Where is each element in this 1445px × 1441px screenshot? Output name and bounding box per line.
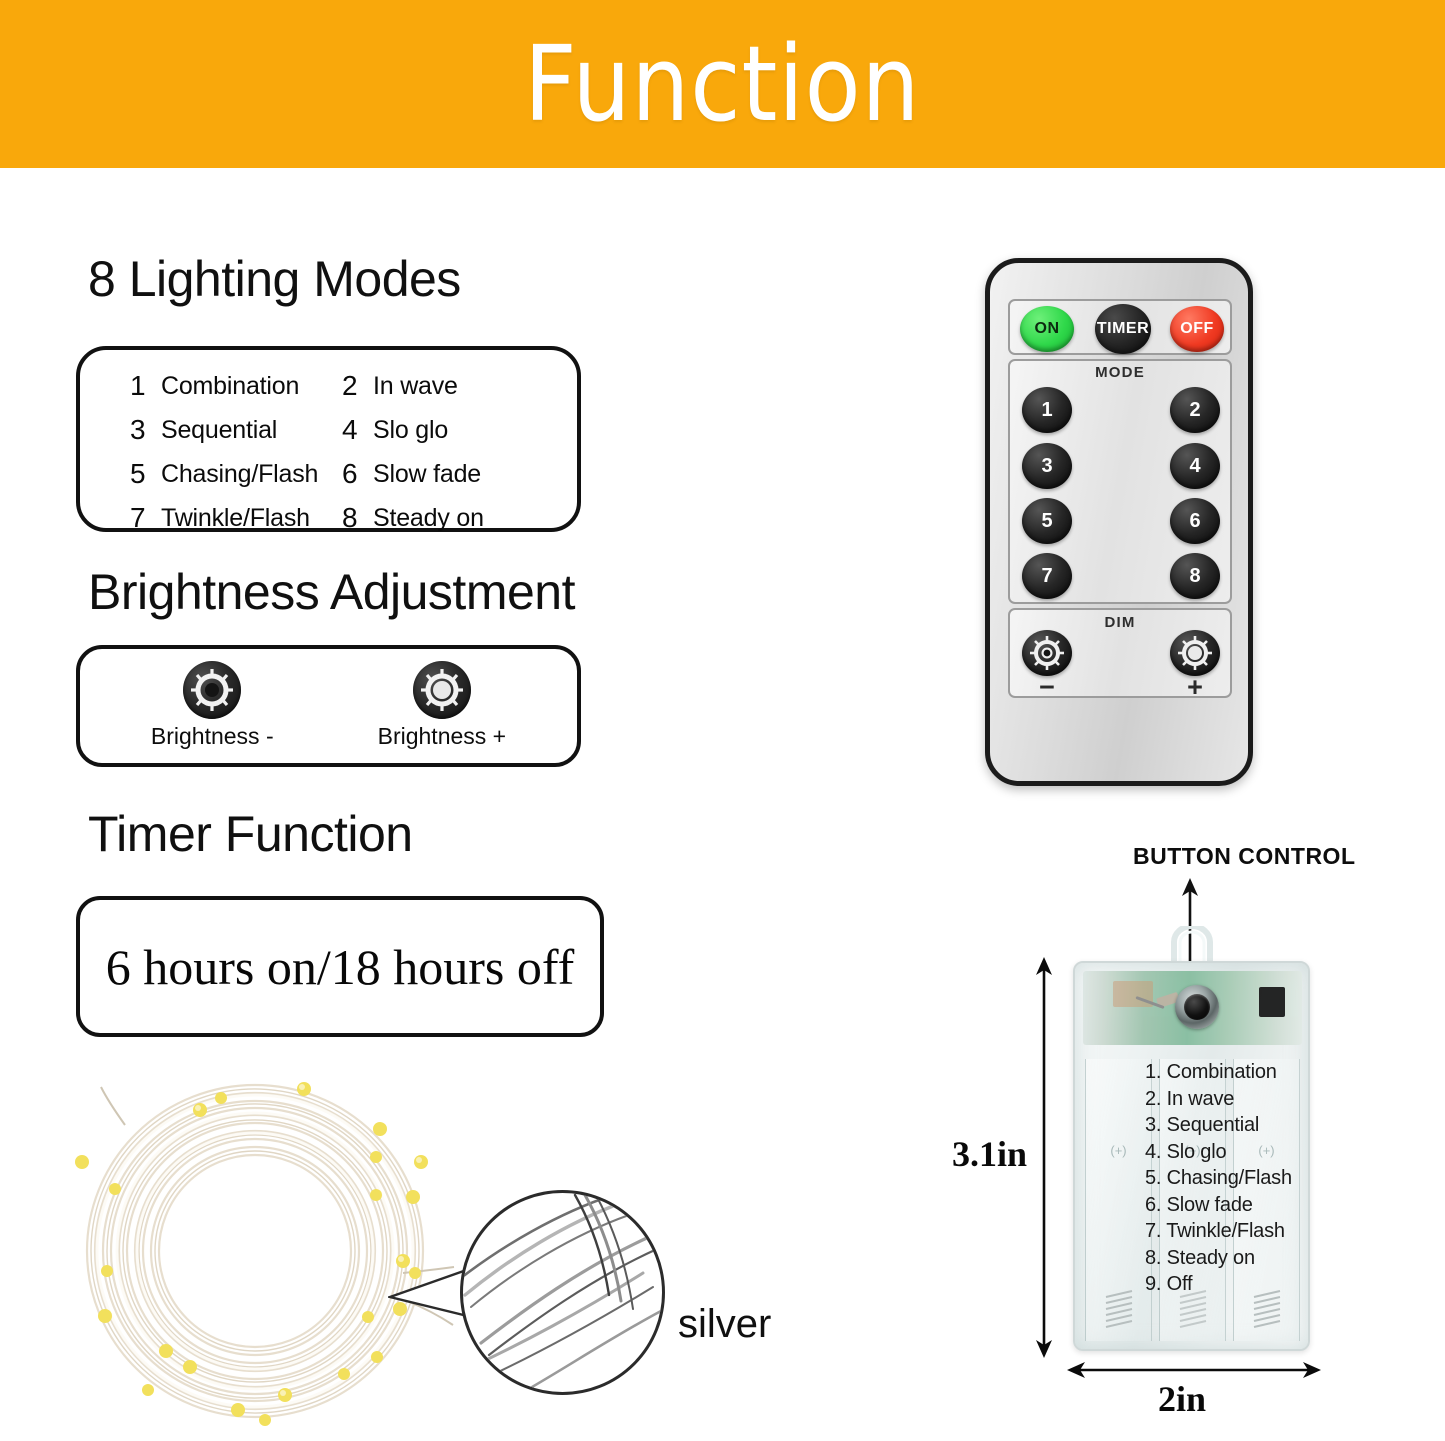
remote-mode-button-5[interactable]: 5 bbox=[1022, 498, 1072, 544]
remote-dim-down-sign: − bbox=[1022, 672, 1072, 703]
remote-control: ON TIMER OFF MODE 1 2 3 4 5 6 7 8 DIM bbox=[985, 258, 1253, 786]
battery-mode-item: 6. Slow fade bbox=[1145, 1192, 1292, 1219]
battery-mode-item: 9. Off bbox=[1145, 1271, 1292, 1298]
remote-mode-panel: MODE 1 2 3 4 5 6 7 8 bbox=[1008, 359, 1232, 604]
battery-mode-item: 4. Slo glo bbox=[1145, 1139, 1292, 1166]
remote-mode-button-2[interactable]: 2 bbox=[1170, 387, 1220, 433]
mode-item: 7 Twinkle/Flash bbox=[130, 496, 342, 540]
mode-label: Combination bbox=[161, 372, 299, 401]
remote-mode-button-4[interactable]: 4 bbox=[1170, 443, 1220, 489]
remote-mode-button-3[interactable]: 3 bbox=[1022, 443, 1072, 489]
timer-function-box: 6 hours on/18 hours off bbox=[76, 896, 604, 1037]
mode-label: Twinkle/Flash bbox=[161, 504, 310, 533]
battery-spring-icon bbox=[1102, 1283, 1136, 1331]
mode-label: Steady on bbox=[373, 504, 484, 533]
mode-number: 6 bbox=[342, 458, 360, 490]
remote-mode-button-8[interactable]: 8 bbox=[1170, 553, 1220, 599]
mode-label: Slow fade bbox=[373, 460, 481, 489]
battery-mode-item: 5. Chasing/Flash bbox=[1145, 1165, 1292, 1192]
pcb-component-black bbox=[1259, 987, 1285, 1017]
silver-label: silver bbox=[678, 1302, 771, 1347]
mode-item: 8 Steady on bbox=[342, 496, 554, 540]
lighting-modes-box: 1 Combination 2 In wave 3 Sequential 4 S… bbox=[76, 346, 581, 532]
remote-top-panel: ON TIMER OFF bbox=[1008, 299, 1232, 355]
remote-dim-up-button[interactable] bbox=[1170, 630, 1220, 676]
battery-slot: (+) bbox=[1085, 1059, 1152, 1341]
battery-mode-item: 2. In wave bbox=[1145, 1086, 1292, 1113]
battery-mode-item: 3. Sequential bbox=[1145, 1112, 1292, 1139]
brightness-down-icon bbox=[183, 661, 241, 719]
mode-item: 1 Combination bbox=[130, 364, 342, 408]
remote-dim-caption: DIM bbox=[1010, 614, 1230, 631]
mode-item: 5 Chasing/Flash bbox=[130, 452, 342, 496]
magnifier-circle-icon bbox=[460, 1190, 665, 1395]
battery-mode-item: 7. Twinkle/Flash bbox=[1145, 1218, 1292, 1245]
mode-number: 5 bbox=[130, 458, 148, 490]
remote-dim-panel: DIM bbox=[1008, 608, 1232, 698]
led-wire-coil-image bbox=[55, 1065, 455, 1435]
timer-value: 6 hours on/18 hours off bbox=[80, 900, 600, 1033]
lighting-modes-grid: 1 Combination 2 In wave 3 Sequential 4 S… bbox=[130, 364, 570, 540]
lighting-modes-heading: 8 Lighting Modes bbox=[88, 250, 461, 308]
brightness-up-icon bbox=[413, 661, 471, 719]
mode-label: Sequential bbox=[161, 416, 277, 445]
battery-mode-item: 1. Combination bbox=[1145, 1059, 1292, 1086]
mode-number: 4 bbox=[342, 414, 360, 446]
remote-mode-button-1[interactable]: 1 bbox=[1022, 387, 1072, 433]
remote-dim-up-sign: + bbox=[1170, 672, 1220, 703]
remote-off-button[interactable]: OFF bbox=[1170, 306, 1224, 352]
remote-mode-button-6[interactable]: 6 bbox=[1170, 498, 1220, 544]
brightness-up-label: Brightness + bbox=[378, 723, 507, 750]
infographic-page: Function 8 Lighting Modes 1 Combination … bbox=[0, 0, 1445, 1441]
brightness-down-label: Brightness - bbox=[151, 723, 274, 750]
battery-box: (+) (+) (+) bbox=[1073, 961, 1310, 1351]
remote-dim-down-button[interactable] bbox=[1022, 630, 1072, 676]
battery-polarity-mark: (+) bbox=[1110, 1143, 1126, 1158]
mode-number: 3 bbox=[130, 414, 148, 446]
mode-number: 7 bbox=[130, 502, 148, 534]
page-title: Function bbox=[524, 32, 920, 136]
sunburst-icon bbox=[1022, 630, 1072, 676]
height-dimension-arrow bbox=[1024, 955, 1064, 1360]
mode-label: Slo glo bbox=[373, 416, 448, 445]
battery-box-control-button[interactable] bbox=[1175, 985, 1219, 1029]
mode-label: In wave bbox=[373, 372, 458, 401]
mode-number: 8 bbox=[342, 502, 360, 534]
brightness-down-cell: Brightness - bbox=[151, 661, 274, 763]
sunburst-icon bbox=[1170, 630, 1220, 676]
brightness-adjustment-box: Brightness - bbox=[76, 645, 581, 767]
button-control-label: BUTTON CONTROL bbox=[1133, 843, 1356, 870]
brightness-up-cell: Brightness + bbox=[378, 661, 507, 763]
battery-box-mode-list: 1. Combination 2. In wave 3. Sequential … bbox=[1145, 1059, 1292, 1298]
mode-item: 3 Sequential bbox=[130, 408, 342, 452]
brightness-adjustment-heading: Brightness Adjustment bbox=[88, 563, 575, 621]
timer-function-heading: Timer Function bbox=[88, 805, 413, 863]
mode-item: 6 Slow fade bbox=[342, 452, 554, 496]
brightness-buttons-row: Brightness - bbox=[80, 649, 577, 763]
mode-item: 2 In wave bbox=[342, 364, 554, 408]
height-dimension-label: 3.1in bbox=[952, 1133, 1027, 1175]
width-dimension-label: 2in bbox=[1158, 1378, 1206, 1420]
battery-mode-item: 8. Steady on bbox=[1145, 1245, 1292, 1272]
mode-number: 1 bbox=[130, 370, 148, 402]
remote-mode-button-7[interactable]: 7 bbox=[1022, 553, 1072, 599]
remote-timer-button[interactable]: TIMER bbox=[1095, 304, 1151, 354]
mode-number: 2 bbox=[342, 370, 360, 402]
header-banner: Function bbox=[0, 0, 1445, 168]
remote-on-button[interactable]: ON bbox=[1020, 306, 1074, 352]
mode-item: 4 Slo glo bbox=[342, 408, 554, 452]
remote-mode-caption: MODE bbox=[1010, 364, 1230, 381]
mode-label: Chasing/Flash bbox=[161, 460, 318, 489]
